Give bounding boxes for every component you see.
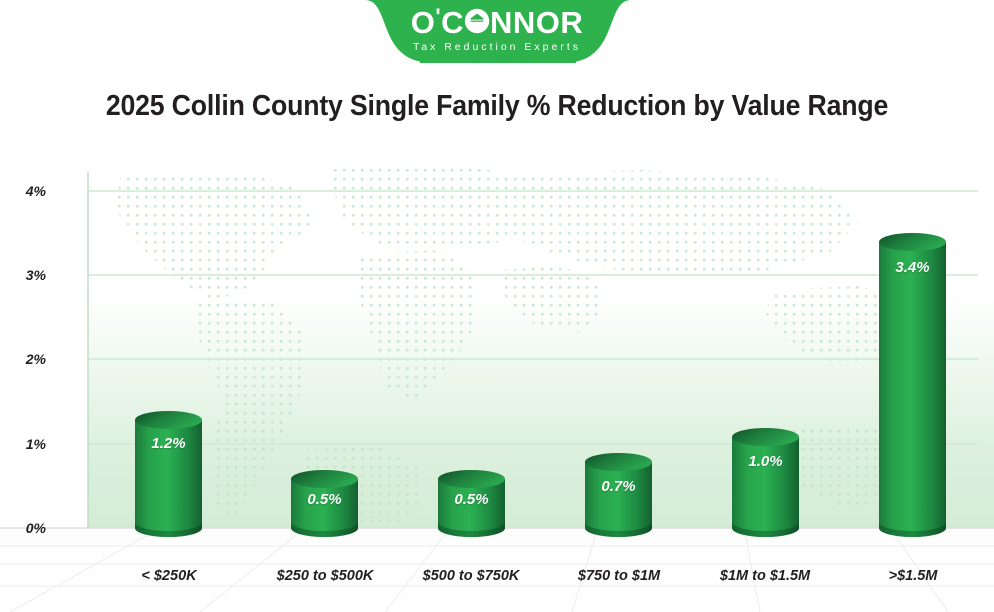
x-tick-label: $250 to $500K	[250, 568, 400, 584]
logo-text-o: O	[411, 8, 436, 38]
bar-cylinder[interactable]: 0.5%	[291, 470, 358, 528]
bars-layer: 1.2%	[0, 150, 994, 612]
logo-text-c: C	[441, 8, 464, 38]
logo-apostrophe: '	[435, 2, 441, 32]
x-tick-label: < $250K	[94, 568, 244, 584]
chart-plot-area: 4% 3% 2% 1% 0%	[0, 150, 994, 612]
x-axis: < $250K $250 to $500K $500 to $750K $750…	[0, 568, 994, 608]
bar-cylinder[interactable]: 0.5%	[438, 470, 505, 528]
house-circle-icon	[464, 7, 490, 39]
logo-wordmark: O'CNNOR	[411, 8, 584, 38]
page-title: 2025 Collin County Single Family % Reduc…	[40, 90, 954, 123]
x-tick-label: >$1.5M	[838, 568, 988, 584]
logo-text-nnor: NNOR	[490, 8, 583, 38]
logo-tagline: Tax Reduction Experts	[413, 41, 581, 53]
bar-cylinder[interactable]: 1.2%	[135, 411, 202, 528]
brand-logo: O'CNNOR Tax Reduction Experts	[0, 0, 994, 66]
bar-cylinder[interactable]: 3.4%	[879, 233, 946, 528]
x-tick-label: $1M to $1.5M	[690, 568, 840, 584]
x-tick-label: $750 to $1M	[544, 568, 694, 584]
chart-page: O'CNNOR Tax Reduction Experts 2025 Colli…	[0, 0, 994, 612]
bar-cylinder[interactable]: 1.0%	[732, 428, 799, 528]
bar-cylinder[interactable]: 0.7%	[585, 453, 652, 528]
x-tick-label: $500 to $750K	[396, 568, 546, 584]
